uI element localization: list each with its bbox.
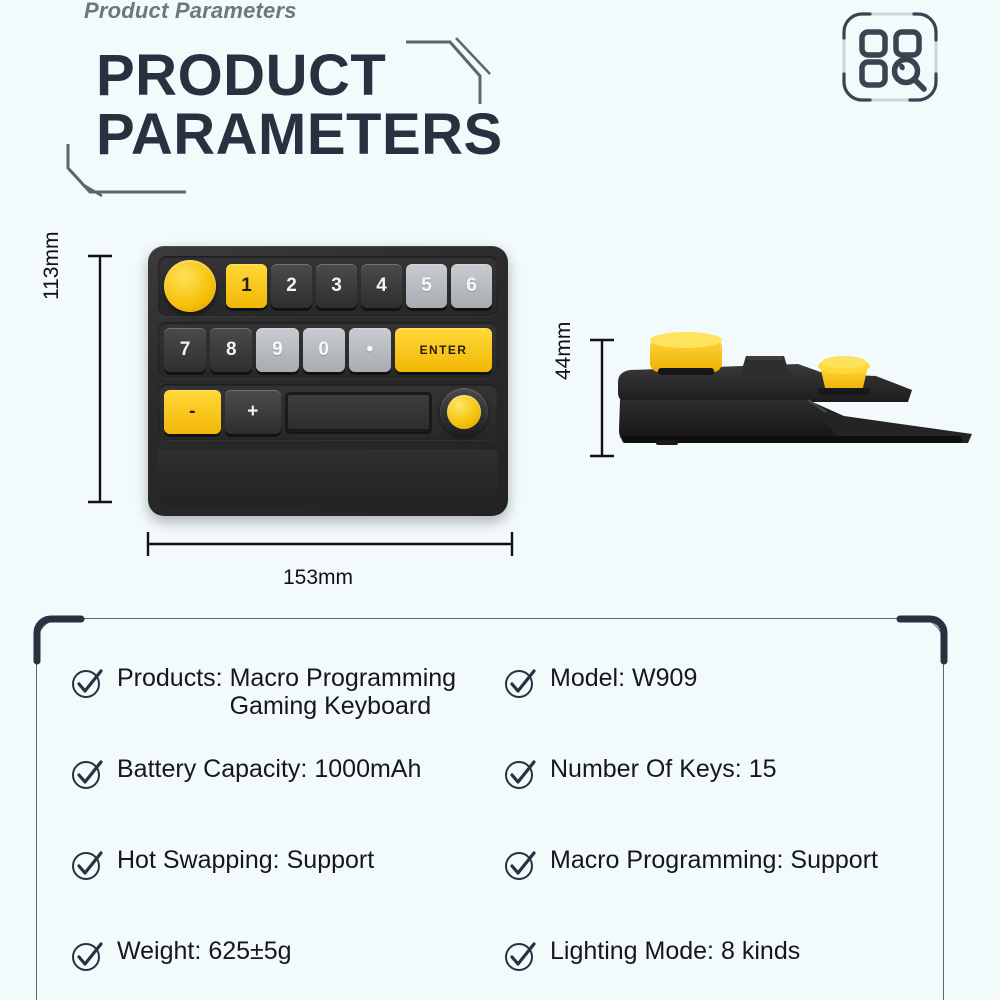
key-plus[interactable]: + (225, 390, 282, 434)
spec-label: Model: (550, 664, 625, 692)
key-0[interactable]: 0 (303, 328, 345, 372)
check-circle-icon (503, 939, 537, 978)
key-9[interactable]: 9 (256, 328, 298, 372)
key-8[interactable]: 8 (210, 328, 252, 372)
page-title-line2: PARAMETERS (96, 105, 503, 164)
spec-label: Battery Capacity: (117, 755, 307, 783)
page-title-line1: PRODUCT (96, 43, 386, 108)
knob-right[interactable] (436, 388, 492, 436)
check-circle-icon (70, 939, 104, 978)
spec-text: Macro Programming: Support (550, 846, 878, 874)
keypad-row-2: 7 8 9 0 • ENTER (158, 322, 498, 378)
check-circle-icon (70, 757, 104, 796)
spec-item-number-of-keys: Number Of Keys: 15 (503, 755, 926, 846)
key-spacebar[interactable] (285, 392, 432, 432)
key-2[interactable]: 2 (271, 264, 312, 308)
spec-item-weight: Weight: 625±5g (70, 937, 493, 1000)
spec-label: Lighting Mode: (550, 937, 714, 965)
check-circle-icon (70, 848, 104, 887)
key-4[interactable]: 4 (361, 264, 402, 308)
spec-value: Support (790, 846, 878, 874)
palm-rest (158, 450, 498, 506)
key-1[interactable]: 1 (226, 264, 267, 308)
spec-text: Number Of Keys: 15 (550, 755, 777, 783)
check-circle-icon (503, 757, 537, 796)
knob-right-cap (447, 395, 481, 429)
spec-item-battery-capacity: Battery Capacity: 1000mAh (70, 755, 493, 846)
spec-value: 8 kinds (721, 937, 800, 965)
keypad-row-1: 1 2 3 4 5 6 (158, 256, 498, 316)
keypad-row-3: - + (158, 384, 498, 440)
spec-item-lighting-mode: Lighting Mode: 8 kinds (503, 937, 926, 1000)
key-enter[interactable]: ENTER (395, 328, 492, 372)
spec-text: Weight: 625±5g (117, 937, 292, 965)
spec-item-macro-programming: Macro Programming: Support (503, 846, 926, 937)
check-circle-icon (503, 666, 537, 705)
dimension-height-line (86, 252, 114, 511)
check-circle-icon (503, 848, 537, 887)
knob-left[interactable] (164, 260, 216, 312)
spec-label: Number Of Keys: (550, 755, 742, 783)
spec-label: Products: (117, 664, 223, 692)
key-5[interactable]: 5 (406, 264, 447, 308)
dimension-width-line (144, 530, 516, 563)
spec-value: Support (287, 846, 375, 874)
spec-value: 15 (749, 755, 777, 783)
key-3[interactable]: 3 (316, 264, 357, 308)
keypad-side-view (612, 330, 1000, 460)
key-minus[interactable]: - (164, 390, 221, 434)
spec-text: Lighting Mode: 8 kinds (550, 937, 800, 965)
spec-item-hot-swapping: Hot Swapping: Support (70, 846, 493, 937)
spec-value: Macro Programming Gaming Keyboard (230, 664, 456, 720)
spec-label: Hot Swapping: (117, 846, 280, 874)
spec-value: 1000mAh (314, 755, 421, 783)
spec-label: Weight: (117, 937, 201, 965)
key-dot[interactable]: • (349, 328, 391, 372)
page-kicker: Product Parameters (84, 0, 297, 24)
spec-text: Battery Capacity: 1000mAh (117, 755, 421, 783)
page-title: PRODUCT PARAMETERS (96, 46, 503, 164)
spec-label: Macro Programming: (550, 846, 783, 874)
grid-search-icon (836, 8, 948, 106)
spec-text: Hot Swapping: Support (117, 846, 374, 874)
key-7[interactable]: 7 (164, 328, 206, 372)
dimension-width-label: 153mm (283, 566, 353, 590)
dimension-thickness-label: 44mm (552, 322, 576, 380)
knob-right-ring (440, 388, 488, 436)
spec-value: 625±5g (208, 937, 291, 965)
check-circle-icon (70, 666, 104, 705)
spec-item-products: Products: Macro Programming Gaming Keybo… (70, 664, 493, 755)
spec-item-model: Model: W909 (503, 664, 926, 755)
spec-text: Products: Macro Programming Gaming Keybo… (117, 664, 456, 720)
spec-text: Model: W909 (550, 664, 697, 692)
dimension-height-label: 113mm (40, 232, 64, 300)
spec-list: Products: Macro Programming Gaming Keybo… (36, 618, 944, 1000)
spec-value: W909 (632, 664, 697, 692)
key-6[interactable]: 6 (451, 264, 492, 308)
dimension-thickness-line (588, 336, 616, 465)
keypad-top-view: 1 2 3 4 5 6 7 8 9 0 • ENTER - + (148, 246, 508, 516)
product-parameters-page: Product Parameters PRODUCT PARAMETERS (0, 0, 1000, 1000)
